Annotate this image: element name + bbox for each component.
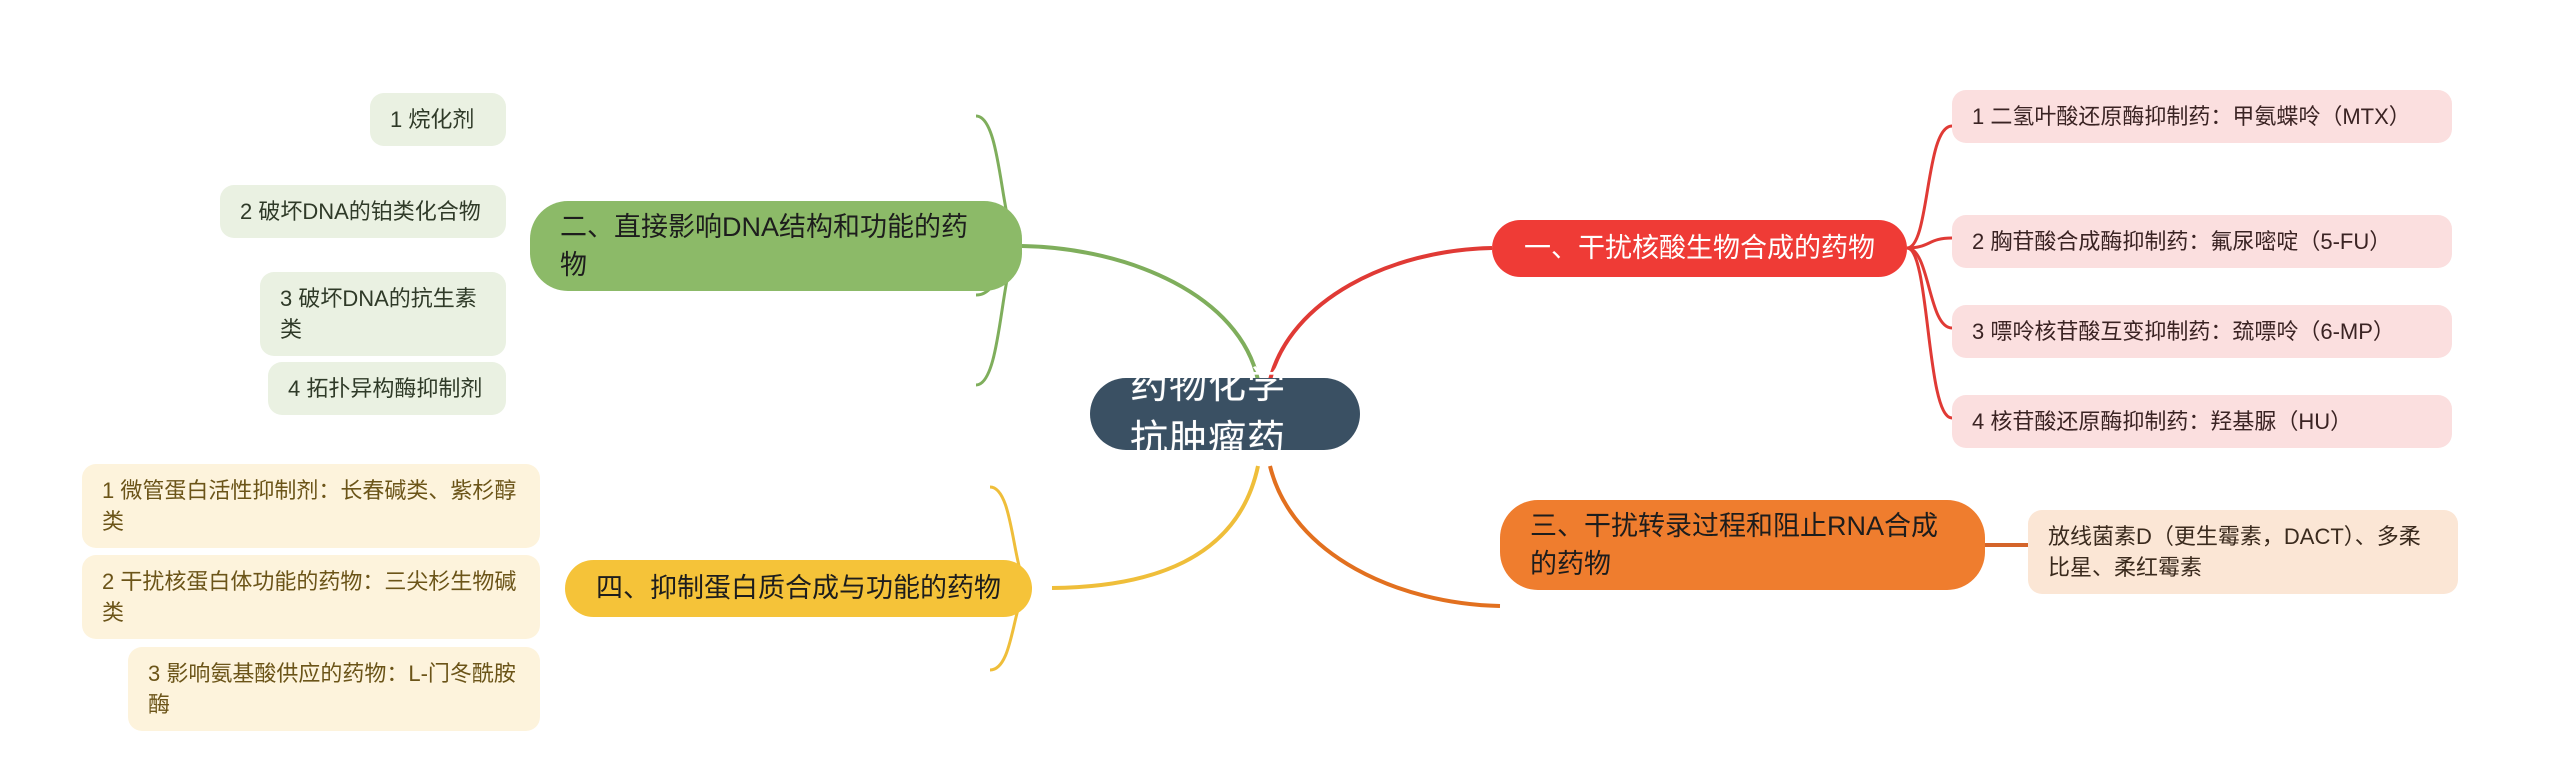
- branch-node-1[interactable]: 一、干扰核酸生物合成的药物: [1492, 220, 1907, 277]
- branch-node-3[interactable]: 三、干扰转录过程和阻止RNA合成的药物: [1500, 500, 1985, 590]
- leaf-node-4-3[interactable]: 3 影响氨基酸供应的药物：L-门冬酰胺酶: [128, 647, 540, 731]
- branch-node-1-label: 一、干扰核酸生物合成的药物: [1524, 229, 1875, 267]
- connector-branch-1-child-3: [1907, 248, 1952, 328]
- branch-node-2-label: 二、直接影响DNA结构和功能的药物: [560, 208, 992, 285]
- branch-node-4[interactable]: 四、抑制蛋白质合成与功能的药物: [565, 560, 1032, 617]
- connector-branch-1-child-1: [1907, 126, 1952, 248]
- leaf-node-2-1[interactable]: 1 烷化剂: [370, 93, 506, 146]
- leaf-node-3-1[interactable]: 放线菌素D（更生霉素，DACT）、多柔比星、柔红霉素: [2028, 510, 2458, 594]
- leaf-node-2-1-label: 1 烷化剂: [390, 104, 474, 135]
- leaf-node-4-2[interactable]: 2 干扰核蛋白体功能的药物：三尖杉生物碱类: [82, 555, 540, 639]
- connector-root-branch-3: [1270, 466, 1500, 606]
- leaf-node-1-1-label: 1 二氢叶酸还原酶抑制药：甲氨蝶呤（MTX）: [1972, 101, 2411, 132]
- mindmap-canvas: 药物化学抗肿瘤药 一、干扰核酸生物合成的药物 1 二氢叶酸还原酶抑制药：甲氨蝶呤…: [0, 0, 2560, 781]
- leaf-node-2-3[interactable]: 3 破坏DNA的抗生素类: [260, 272, 506, 356]
- leaf-node-1-3-label: 3 嘌呤核苷酸互变抑制药：巯嘌呤（6-MP）: [1972, 316, 2395, 347]
- leaf-node-2-4[interactable]: 4 拓扑异构酶抑制剂: [268, 362, 506, 415]
- leaf-node-2-3-label: 3 破坏DNA的抗生素类: [280, 283, 486, 345]
- leaf-node-2-4-label: 4 拓扑异构酶抑制剂: [288, 373, 482, 404]
- leaf-node-1-4-label: 4 核苷酸还原酶抑制药：羟基脲（HU）: [1972, 406, 2352, 437]
- root-node[interactable]: 药物化学抗肿瘤药: [1090, 378, 1360, 450]
- branch-node-4-label: 四、抑制蛋白质合成与功能的药物: [596, 569, 1001, 607]
- leaf-node-1-2[interactable]: 2 胸苷酸合成酶抑制药：氟尿嘧啶（5-FU）: [1952, 215, 2452, 268]
- leaf-node-3-1-label: 放线菌素D（更生霉素，DACT）、多柔比星、柔红霉素: [2048, 521, 2438, 583]
- connector-root-branch-4: [1052, 466, 1258, 588]
- leaf-node-4-2-label: 2 干扰核蛋白体功能的药物：三尖杉生物碱类: [102, 566, 520, 628]
- branch-node-2[interactable]: 二、直接影响DNA结构和功能的药物: [530, 201, 1022, 291]
- connector-branch-1-child-2: [1907, 238, 1952, 248]
- root-node-label: 药物化学抗肿瘤药: [1130, 360, 1320, 468]
- leaf-node-4-3-label: 3 影响氨基酸供应的药物：L-门冬酰胺酶: [148, 658, 520, 720]
- leaf-node-1-3[interactable]: 3 嘌呤核苷酸互变抑制药：巯嘌呤（6-MP）: [1952, 305, 2452, 358]
- leaf-node-4-1-label: 1 微管蛋白活性抑制剂：长春碱类、紫杉醇类: [102, 475, 520, 537]
- leaf-node-4-1[interactable]: 1 微管蛋白活性抑制剂：长春碱类、紫杉醇类: [82, 464, 540, 548]
- leaf-node-1-1[interactable]: 1 二氢叶酸还原酶抑制药：甲氨蝶呤（MTX）: [1952, 90, 2452, 143]
- branch-node-3-label: 三、干扰转录过程和阻止RNA合成的药物: [1530, 507, 1955, 584]
- leaf-node-1-2-label: 2 胸苷酸合成酶抑制药：氟尿嘧啶（5-FU）: [1972, 226, 2391, 257]
- leaf-node-2-2-label: 2 破坏DNA的铂类化合物: [240, 196, 481, 227]
- leaf-node-2-2[interactable]: 2 破坏DNA的铂类化合物: [220, 185, 506, 238]
- leaf-node-1-4[interactable]: 4 核苷酸还原酶抑制药：羟基脲（HU）: [1952, 395, 2452, 448]
- connector-branch-1-child-4: [1907, 248, 1952, 418]
